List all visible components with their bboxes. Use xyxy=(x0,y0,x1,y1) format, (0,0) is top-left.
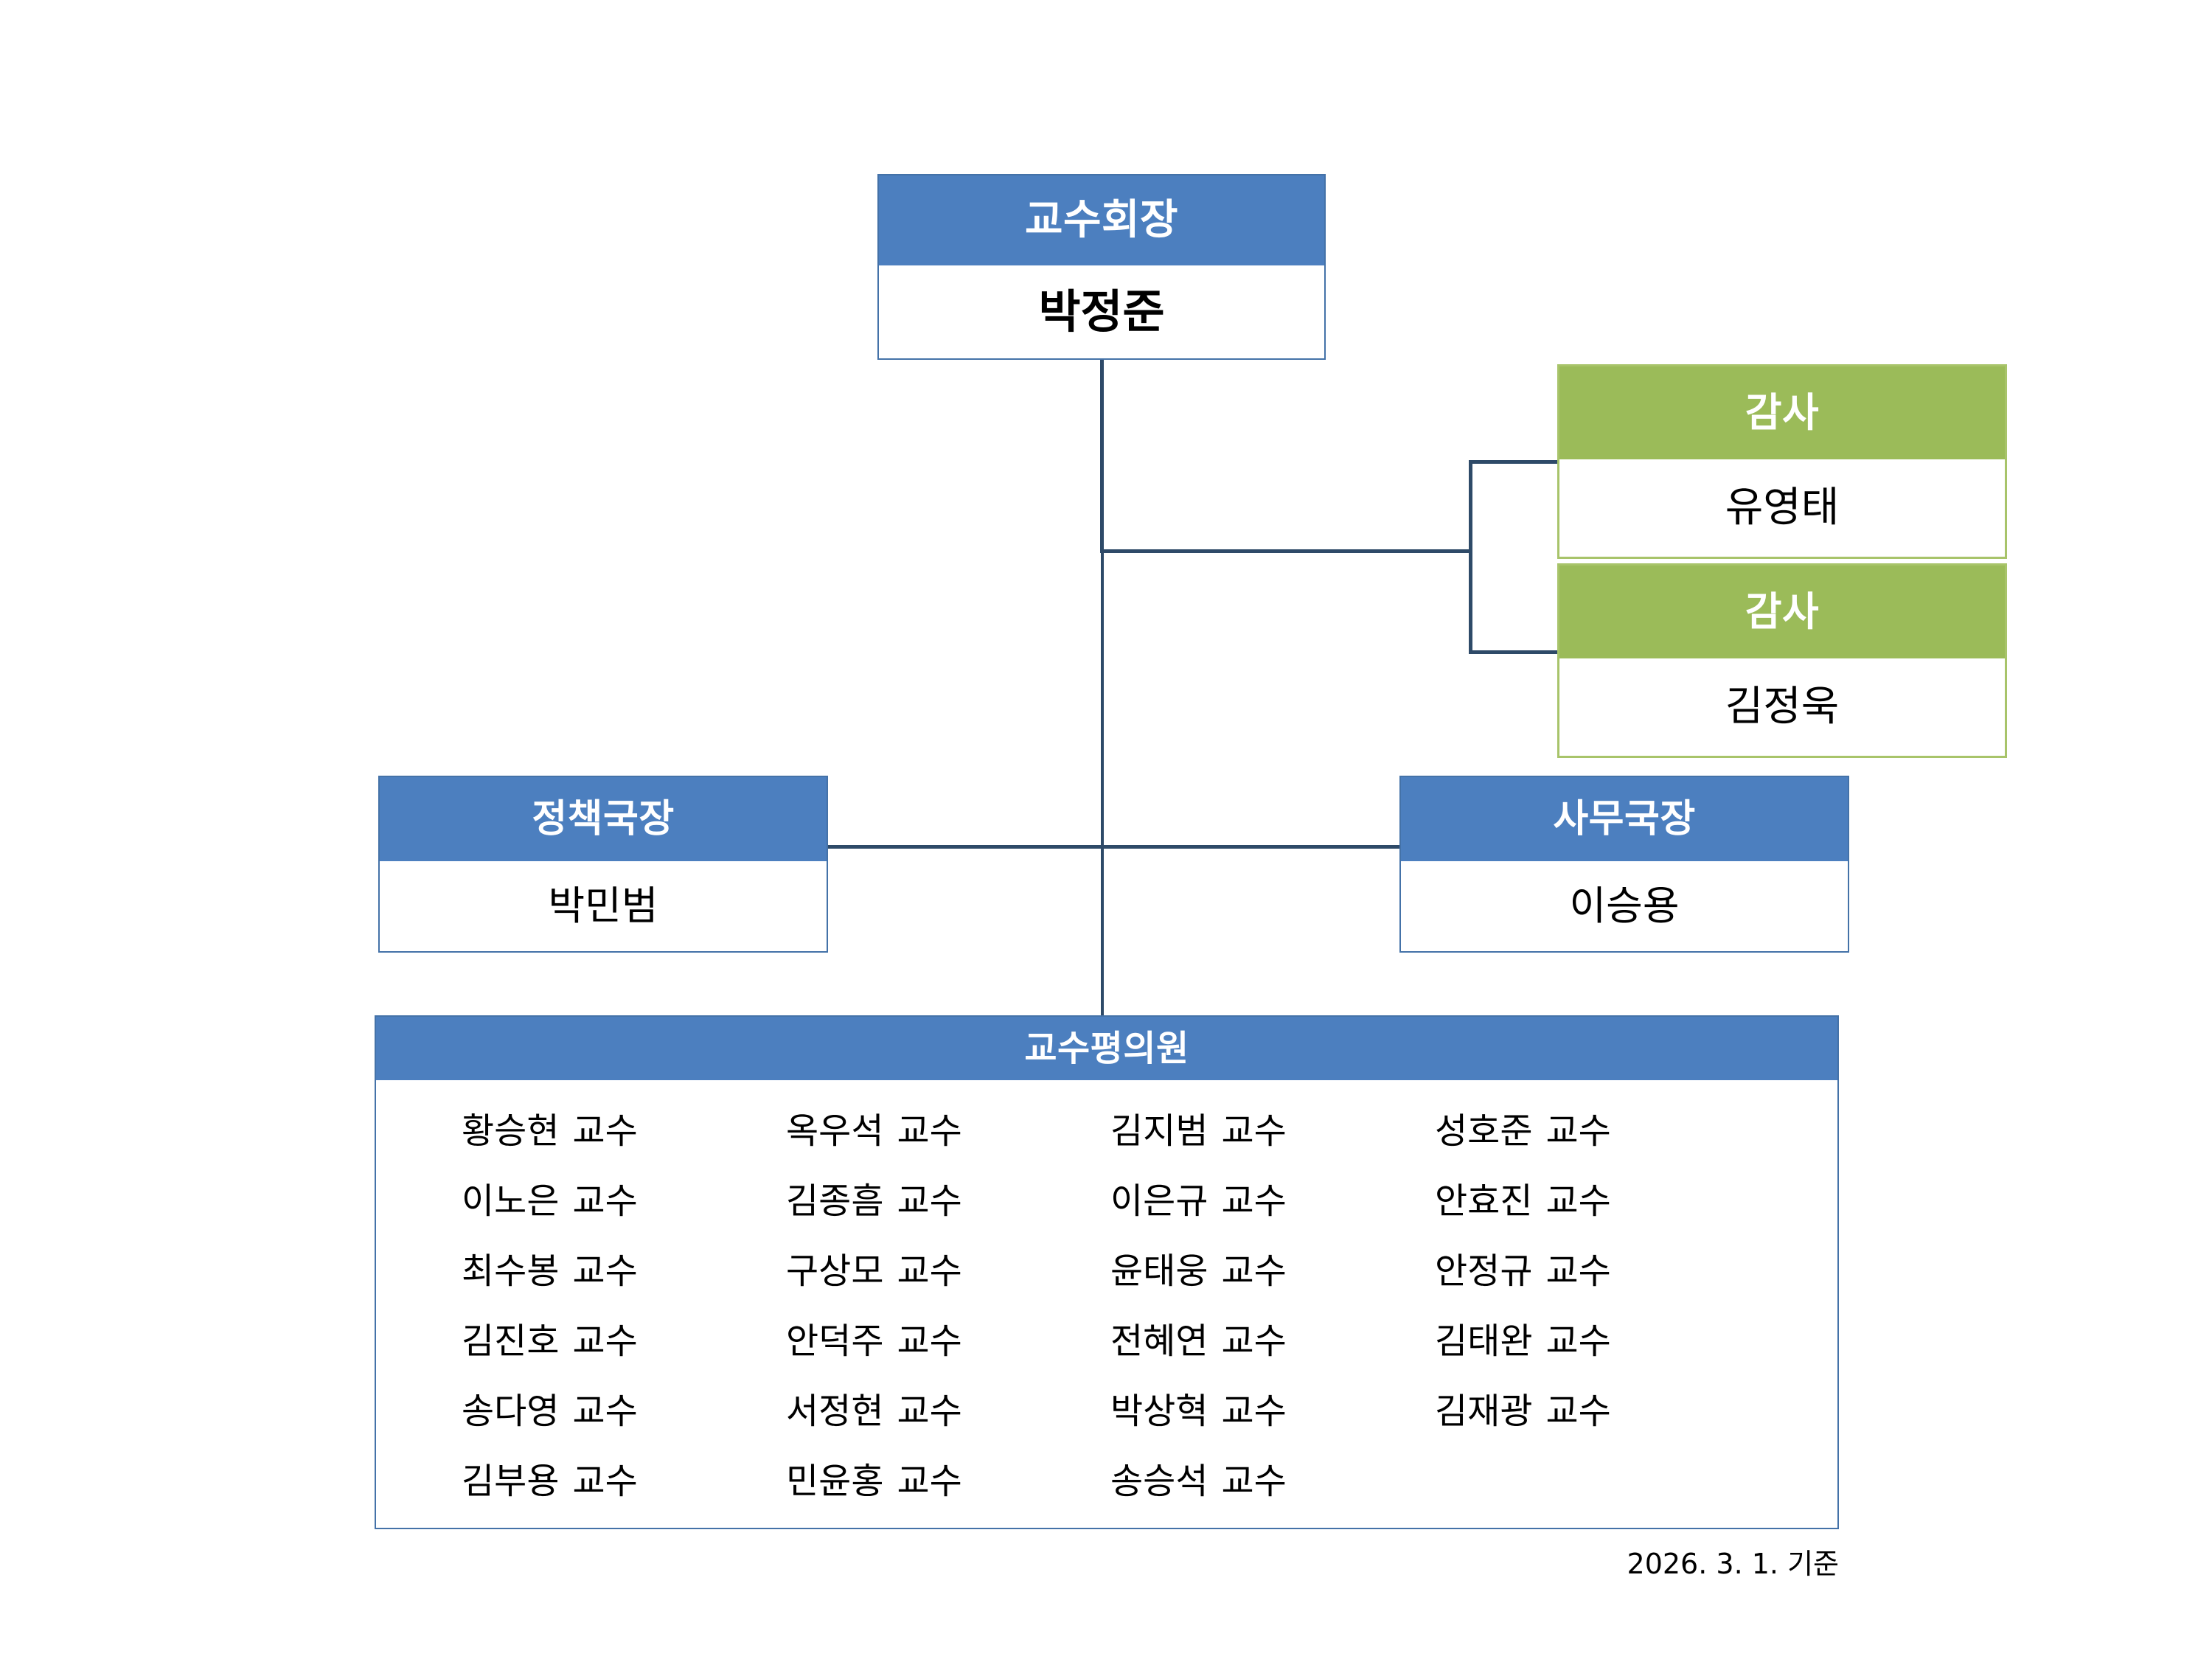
node-president-name: 박정준 xyxy=(879,265,1324,358)
council-member-title: 교수 xyxy=(1545,1110,1610,1152)
council-member-name: 박상혁 xyxy=(1110,1391,1208,1432)
council-member-title: 교수 xyxy=(1221,1461,1286,1502)
node-auditor-1-name: 유영태 xyxy=(1559,459,2005,557)
council-member: 안정규교수 xyxy=(1435,1237,1759,1307)
council-member: 김진호교수 xyxy=(462,1307,786,1377)
council-member-title: 교수 xyxy=(1545,1180,1610,1222)
connector-president-spine xyxy=(1100,360,1104,552)
council-member: 서정현교수 xyxy=(786,1377,1110,1447)
council-member: 황승현교수 xyxy=(462,1096,786,1166)
council-member: 민윤홍교수 xyxy=(786,1447,1110,1517)
council-member-title: 교수 xyxy=(572,1251,637,1292)
org-chart-canvas: 교수회장 박정준 감사 유영태 감사 김정욱 정책국장 박민범 사무국장 이승용… xyxy=(0,0,2212,1659)
council-member-name: 옥우석 xyxy=(786,1110,883,1152)
council-member-name: 안효진 xyxy=(1435,1180,1532,1222)
council-member-title: 교수 xyxy=(1545,1251,1610,1292)
council-member-title: 교수 xyxy=(897,1321,961,1362)
council-member-name: 구상모 xyxy=(786,1251,883,1292)
node-secretary-general-role: 사무국장 xyxy=(1401,777,1848,861)
council-member: 김지범교수 xyxy=(1110,1096,1435,1166)
node-auditor-2[interactable]: 감사 김정욱 xyxy=(1557,563,2007,758)
node-auditor-1[interactable]: 감사 유영태 xyxy=(1557,364,2007,559)
node-president[interactable]: 교수회장 박정준 xyxy=(877,174,1326,360)
council-member-title: 교수 xyxy=(1221,1321,1286,1362)
council-member: 송승석교수 xyxy=(1110,1447,1435,1517)
connector-auditor-1-stub xyxy=(1469,460,1559,464)
council-member-title: 교수 xyxy=(572,1391,637,1432)
council-member-name: 김부용 xyxy=(462,1461,559,1502)
council-member-title: 교수 xyxy=(897,1391,961,1432)
council-member: 최수봉교수 xyxy=(462,1237,786,1307)
council-member-name: 최수봉 xyxy=(462,1251,559,1292)
connector-auditor-2-stub xyxy=(1469,650,1559,654)
node-president-role: 교수회장 xyxy=(879,175,1324,265)
council-member-title: 교수 xyxy=(897,1251,961,1292)
council-member-name: 김재광 xyxy=(1435,1391,1532,1432)
council-member-name: 이노은 xyxy=(462,1180,559,1222)
council-member: 이은규교수 xyxy=(1110,1166,1435,1237)
council-member-name: 김진호 xyxy=(462,1321,559,1362)
council-member-name: 김종흠 xyxy=(786,1180,883,1222)
council-member: 전혜연교수 xyxy=(1110,1307,1435,1377)
council-member-name: 김태완 xyxy=(1435,1321,1532,1362)
council-member: 김종흠교수 xyxy=(786,1166,1110,1237)
council-member-title: 교수 xyxy=(572,1321,637,1362)
connector-directors-band xyxy=(827,845,1401,849)
council-member-name: 안덕주 xyxy=(786,1321,883,1362)
council-member-name: 안정규 xyxy=(1435,1251,1532,1292)
council-member: 성호준교수 xyxy=(1435,1096,1759,1166)
council-member-name: 서정현 xyxy=(786,1391,883,1432)
council-member-title: 교수 xyxy=(897,1110,961,1152)
council-member-title: 교수 xyxy=(572,1110,637,1152)
council-member-title: 교수 xyxy=(572,1180,637,1222)
node-council-role: 교수평의원 xyxy=(376,1017,1837,1080)
council-member: 박상혁교수 xyxy=(1110,1377,1435,1447)
node-auditor-2-name: 김정욱 xyxy=(1559,658,2005,756)
connector-spine-to-council xyxy=(1101,846,1104,1018)
council-member: 김재광교수 xyxy=(1435,1377,1759,1447)
connector-auditor-branch xyxy=(1100,549,1472,553)
council-member: 이노은교수 xyxy=(462,1166,786,1237)
council-member-title: 교수 xyxy=(1221,1110,1286,1152)
council-member-name: 황승현 xyxy=(462,1110,559,1152)
council-member-title: 교수 xyxy=(1221,1180,1286,1222)
node-policy-director-role: 정책국장 xyxy=(380,777,827,861)
node-policy-director[interactable]: 정책국장 박민범 xyxy=(378,776,828,953)
node-secretary-general[interactable]: 사무국장 이승용 xyxy=(1399,776,1849,953)
connector-auditor-bus xyxy=(1469,460,1472,653)
council-member-grid: 황승현교수옥우석교수김지범교수성호준교수이노은교수김종흠교수이은규교수안효진교수… xyxy=(383,1096,1837,1517)
council-member: 송다영교수 xyxy=(462,1377,786,1447)
council-member-name: 송다영 xyxy=(462,1391,559,1432)
council-member: 김태완교수 xyxy=(1435,1307,1759,1377)
council-member: 안덕주교수 xyxy=(786,1307,1110,1377)
council-member-title: 교수 xyxy=(1221,1391,1286,1432)
council-member-title: 교수 xyxy=(1545,1321,1610,1362)
council-member-name: 김지범 xyxy=(1110,1110,1208,1152)
connector-spine-to-midband xyxy=(1101,552,1104,846)
council-member-title: 교수 xyxy=(572,1461,637,1502)
node-policy-director-name: 박민범 xyxy=(380,861,827,951)
council-member-title: 교수 xyxy=(897,1461,961,1502)
council-member: 김부용교수 xyxy=(462,1447,786,1517)
council-member-name: 민윤홍 xyxy=(786,1461,883,1502)
council-member-name: 전혜연 xyxy=(1110,1321,1208,1362)
node-council-body: 황승현교수옥우석교수김지범교수성호준교수이노은교수김종흠교수이은규교수안효진교수… xyxy=(376,1080,1837,1528)
node-auditor-2-role: 감사 xyxy=(1559,566,2005,658)
council-member-title: 교수 xyxy=(1545,1391,1610,1432)
council-member-name: 윤태웅 xyxy=(1110,1251,1208,1292)
node-auditor-1-role: 감사 xyxy=(1559,366,2005,459)
council-member: 안효진교수 xyxy=(1435,1166,1759,1237)
council-member-title: 교수 xyxy=(897,1180,961,1222)
council-member: 윤태웅교수 xyxy=(1110,1237,1435,1307)
council-member: 옥우석교수 xyxy=(786,1096,1110,1166)
chart-footnote: 2026. 3. 1. 기준 xyxy=(1627,1541,1839,1582)
council-member-name: 성호준 xyxy=(1435,1110,1532,1152)
node-council[interactable]: 교수평의원 황승현교수옥우석교수김지범교수성호준교수이노은교수김종흠교수이은규교… xyxy=(375,1015,1839,1529)
council-member-name: 이은규 xyxy=(1110,1180,1208,1222)
council-member-name: 송승석 xyxy=(1110,1461,1208,1502)
node-secretary-general-name: 이승용 xyxy=(1401,861,1848,951)
council-member: 구상모교수 xyxy=(786,1237,1110,1307)
council-member-title: 교수 xyxy=(1221,1251,1286,1292)
